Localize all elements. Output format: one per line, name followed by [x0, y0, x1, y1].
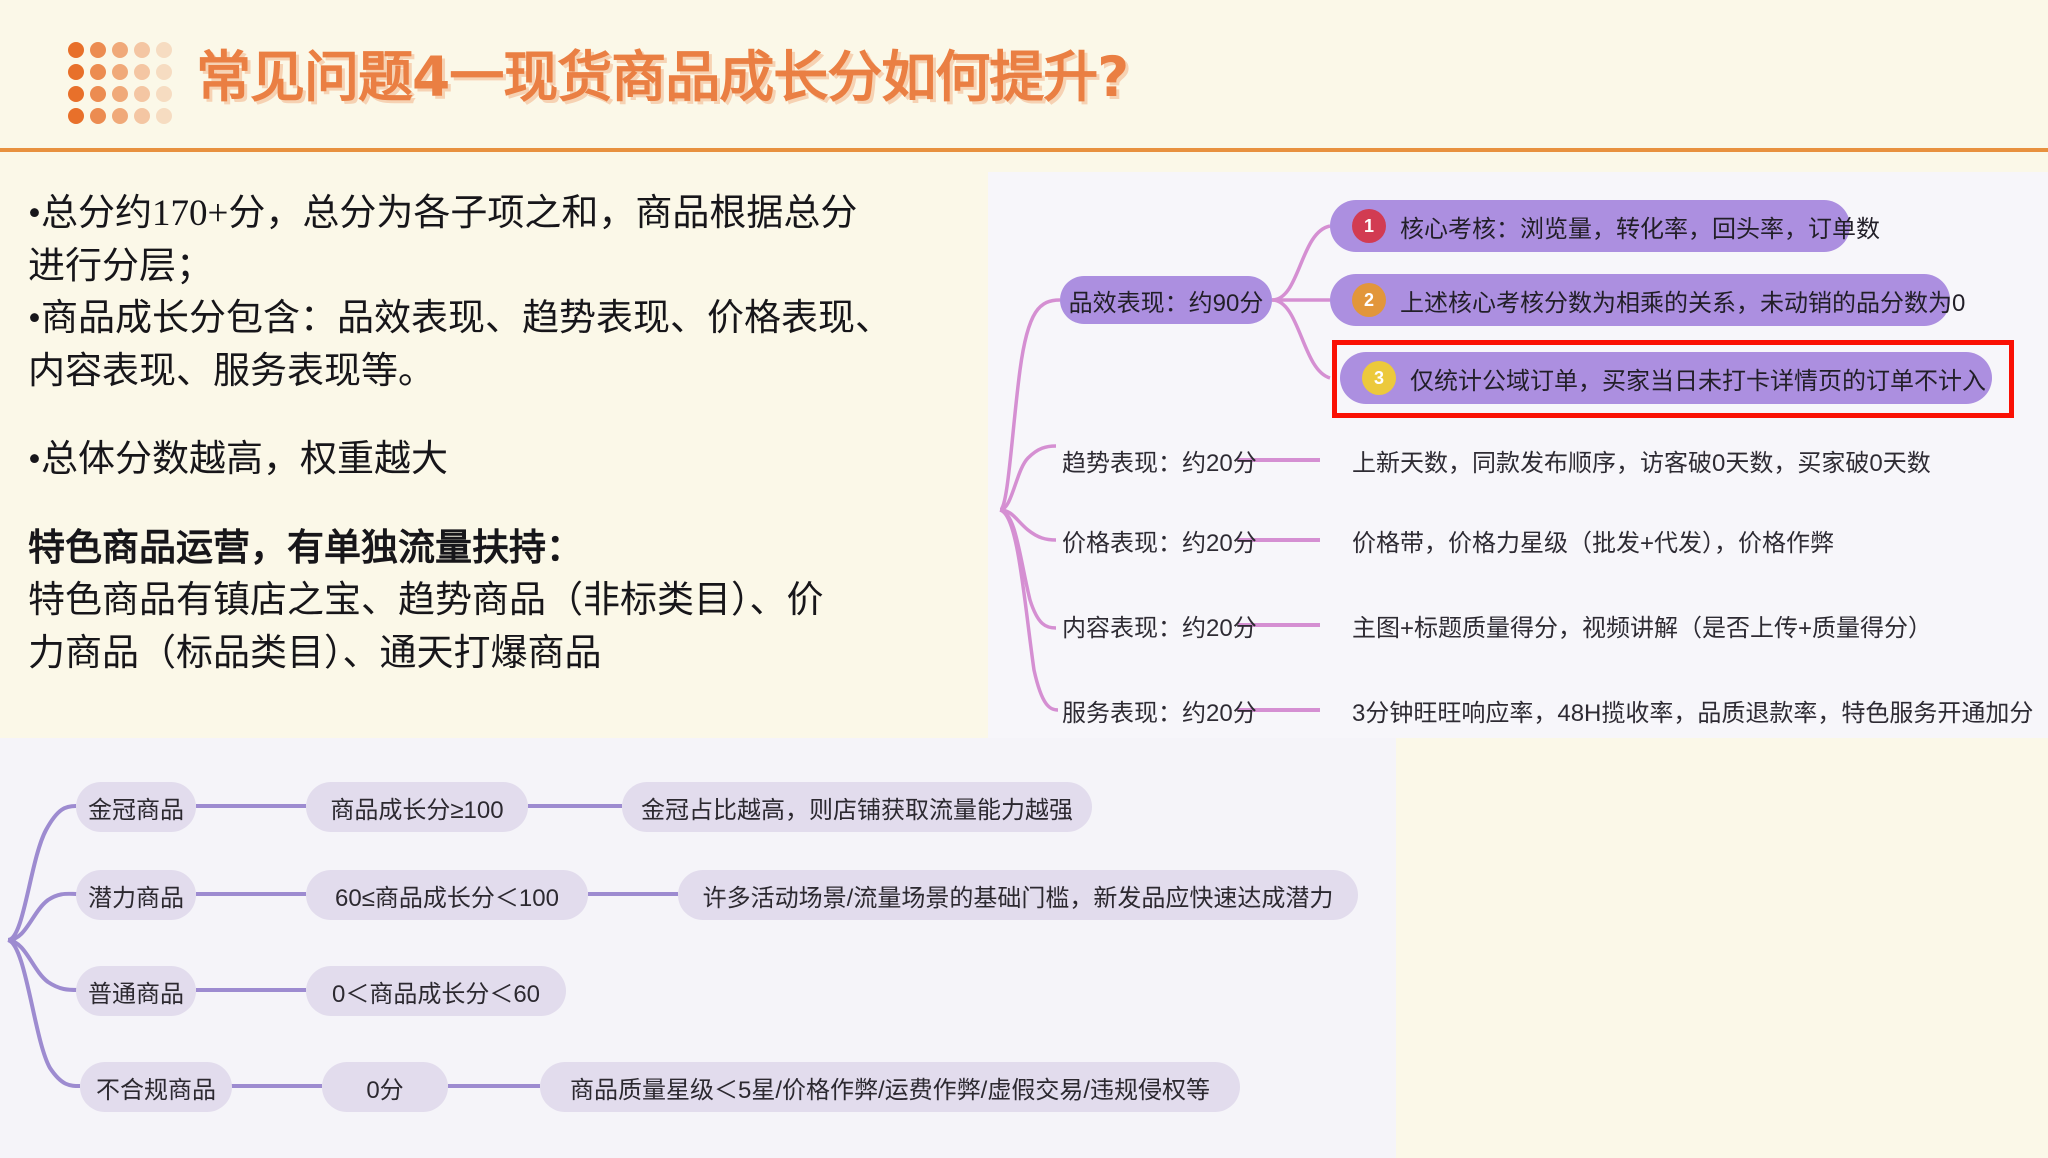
node-label: 普通商品 — [88, 974, 184, 1009]
dot-grid-icon — [68, 42, 178, 130]
mindmap-node-branch-1[interactable]: 1 核心考核：浏览量，转化率，回头率，订单数 — [1330, 200, 1850, 252]
tier-note-gold[interactable]: 金冠占比越高，则店铺获取流量能力越强 — [622, 782, 1092, 832]
node-label: 金冠占比越高，则店铺获取流量能力越强 — [641, 790, 1073, 825]
node-label: 内容表现：约20分 — [1062, 608, 1257, 643]
mindmap-row-detail-price: 价格带，价格力星级（批发+代发），价格作弊 — [1352, 520, 1834, 560]
node-label: 许多活动场景/流量场景的基础门槛，新发品应快速达成潜力 — [703, 878, 1334, 913]
node-label: 商品成长分≥100 — [330, 790, 503, 825]
tier-note-noncompliant[interactable]: 商品质量星级＜5星/价格作弊/运费作弊/虚假交易/违规侵权等 — [540, 1062, 1240, 1112]
tier-score-noncompliant[interactable]: 0分 — [322, 1062, 448, 1112]
node-label: 3分钟旺旺响应率，48H揽收率，品质退款率，特色服务开通加分 — [1352, 693, 2033, 728]
mindmap-row-label-content[interactable]: 内容表现：约20分 — [1062, 605, 1242, 645]
panel-notch — [1396, 738, 2048, 1158]
node-label: 服务表现：约20分 — [1062, 693, 1257, 728]
mindmap-row-label-trend[interactable]: 趋势表现：约20分 — [1062, 440, 1242, 480]
node-label: 价格表现：约20分 — [1062, 523, 1257, 558]
node-label: 不合规商品 — [96, 1070, 216, 1105]
left-text-heading: 特色商品运营，有单独流量扶持： — [28, 523, 968, 576]
left-text-line: •总体分数越高，权重越大 — [28, 434, 968, 487]
node-label: 核心考核：浏览量，转化率，回头率，订单数 — [1400, 209, 1880, 244]
left-text-block: •总分约170+分，总分为各子项之和，商品根据总分 进行分层； •商品成长分包含… — [28, 188, 968, 680]
mindmap-node-branch-3[interactable]: 3 仅统计公域订单，买家当日未打卡详情页的订单不计入 — [1340, 352, 1992, 404]
left-text-line: •总分约170+分，总分为各子项之和，商品根据总分 — [28, 188, 968, 241]
node-label: 0分 — [366, 1070, 403, 1105]
badge-number-1: 1 — [1352, 209, 1386, 243]
node-label: 趋势表现：约20分 — [1062, 443, 1257, 478]
mindmap-row-label-price[interactable]: 价格表现：约20分 — [1062, 520, 1242, 560]
left-text-line: 特色商品有镇店之宝、趋势商品（非标类目）、价 — [28, 575, 968, 628]
slide-canvas: 常见问题4一现货商品成长分如何提升? •总分约170+分，总分为各子项之和，商品… — [0, 0, 2048, 1158]
node-label: 上新天数，同款发布顺序，访客破0天数，买家破0天数 — [1352, 443, 1931, 478]
node-label: 品效表现：约90分 — [1069, 283, 1264, 318]
tier-node-normal[interactable]: 普通商品 — [76, 966, 196, 1016]
mindmap-node-root[interactable]: 品效表现：约90分 — [1060, 276, 1272, 324]
mindmap-row-label-service[interactable]: 服务表现：约20分 — [1062, 690, 1242, 730]
mindmap-row-detail-trend: 上新天数，同款发布顺序，访客破0天数，买家破0天数 — [1352, 440, 1931, 480]
left-text-line: 内容表现、服务表现等。 — [28, 346, 968, 399]
node-label: 仅统计公域订单，买家当日未打卡详情页的订单不计入 — [1410, 361, 1986, 396]
spacer — [28, 487, 968, 523]
left-text-line: 力商品（标品类目）、通天打爆商品 — [28, 628, 968, 681]
spacer — [28, 398, 968, 434]
node-label: 上述核心考核分数为相乘的关系，未动销的品分数为0 — [1400, 283, 1965, 318]
node-label: 商品质量星级＜5星/价格作弊/运费作弊/虚假交易/违规侵权等 — [570, 1070, 1210, 1105]
page-title: 常见问题4一现货商品成长分如何提升? — [196, 32, 1128, 112]
badge-number-2: 2 — [1352, 283, 1386, 317]
tier-score-normal[interactable]: 0＜商品成长分＜60 — [306, 966, 566, 1016]
mindmap-row-detail-content: 主图+标题质量得分，视频讲解（是否上传+质量得分） — [1352, 605, 1932, 645]
left-text-line: •商品成长分包含：品效表现、趋势表现、价格表现、 — [28, 293, 968, 346]
tier-node-noncompliant[interactable]: 不合规商品 — [80, 1062, 232, 1112]
tier-note-potential[interactable]: 许多活动场景/流量场景的基础门槛，新发品应快速达成潜力 — [678, 870, 1358, 920]
node-label: 金冠商品 — [88, 790, 184, 825]
tier-node-potential[interactable]: 潜力商品 — [76, 870, 196, 920]
badge-number-3: 3 — [1362, 361, 1396, 395]
mindmap-row-detail-service: 3分钟旺旺响应率，48H揽收率，品质退款率，特色服务开通加分 — [1352, 690, 2033, 730]
left-text-line: 进行分层； — [28, 241, 968, 294]
node-label: 60≤商品成长分＜100 — [335, 878, 559, 913]
tier-score-potential[interactable]: 60≤商品成长分＜100 — [306, 870, 588, 920]
tier-score-gold[interactable]: 商品成长分≥100 — [306, 782, 528, 832]
tier-node-gold[interactable]: 金冠商品 — [76, 782, 196, 832]
node-label: 潜力商品 — [88, 878, 184, 913]
node-label: 主图+标题质量得分，视频讲解（是否上传+质量得分） — [1352, 608, 1932, 643]
mindmap-node-branch-2[interactable]: 2 上述核心考核分数为相乘的关系，未动销的品分数为0 — [1330, 274, 1950, 326]
node-label: 0＜商品成长分＜60 — [332, 974, 540, 1009]
header-divider — [0, 148, 2048, 152]
node-label: 价格带，价格力星级（批发+代发），价格作弊 — [1352, 523, 1834, 558]
